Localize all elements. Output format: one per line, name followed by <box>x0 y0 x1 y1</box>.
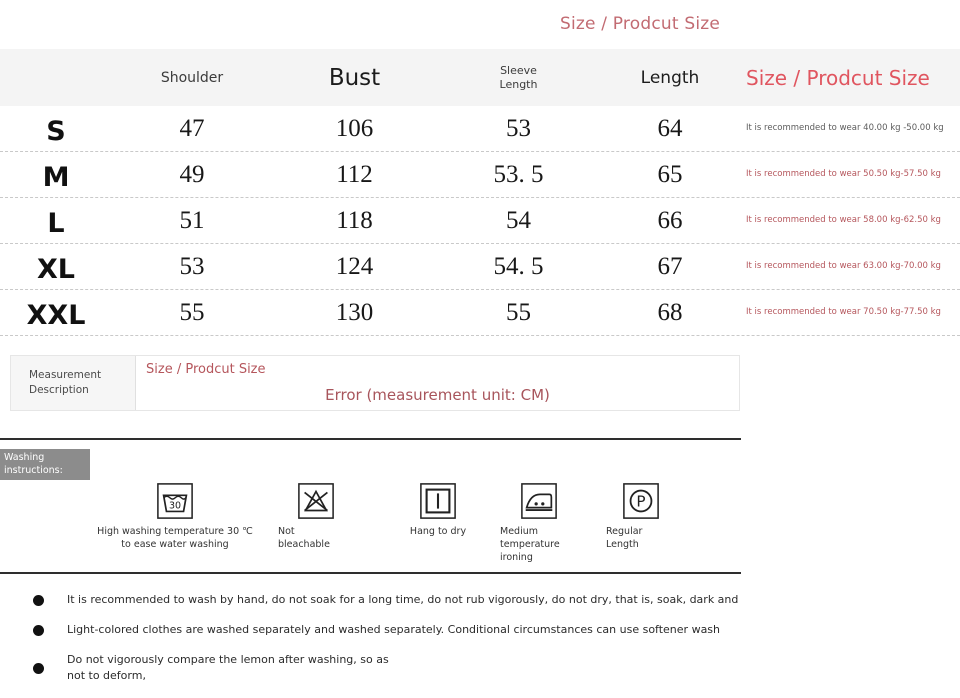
cell-sleeve-length: 53. 5 <box>437 152 600 197</box>
value-sleeve-length: 53 <box>506 115 531 143</box>
list-item: Do not vigorously compare the lemon afte… <box>0 652 760 684</box>
care-label-no-bleach: Not bleachable <box>278 526 330 552</box>
value-length: 66 <box>658 207 683 235</box>
value-bust: 124 <box>336 253 374 281</box>
cell-shoulder: 47 <box>112 106 272 151</box>
value-sleeve-length: 54. 5 <box>494 253 544 281</box>
dry-clean-p-icon: P <box>622 482 660 520</box>
measurement-description-body: Size / Prodcut Size Error (measurement u… <box>136 356 739 410</box>
care-label-wash-temp: High washing temperature 30 ℃ to ease wa… <box>97 526 253 552</box>
value-bust: 112 <box>336 161 373 189</box>
note-text: Do not vigorously compare the lemon afte… <box>67 652 389 684</box>
header-cell-size <box>0 49 112 106</box>
header-cell-length: Length <box>600 49 740 106</box>
hang-to-dry-icon <box>419 482 457 520</box>
value-length: 65 <box>658 161 683 189</box>
cell-length: 64 <box>600 106 740 151</box>
cell-bust: 130 <box>272 290 437 335</box>
svg-text:30: 30 <box>169 501 181 512</box>
cell-size: L <box>0 198 112 243</box>
list-item: Light-colored clothes are washed separat… <box>0 622 760 638</box>
table-header-row: Shoulder Bust Sleeve Length Length Size … <box>0 49 960 106</box>
cell-recommendation: It is recommended to wear 58.00 kg-62.50… <box>740 198 960 243</box>
measurement-description-label: Measurement Description <box>11 356 136 410</box>
value-recommendation: It is recommended to wear 63.00 kg-70.00… <box>746 261 941 272</box>
cell-sleeve-length: 54 <box>437 198 600 243</box>
care-notes-list: It is recommended to wash by hand, do no… <box>0 592 760 698</box>
table-row: XXL 55 130 55 68 It is recommended to we… <box>0 290 960 336</box>
size-label: M <box>43 164 70 191</box>
header-cell-recommendation: Size / Prodcut Size <box>740 49 960 106</box>
value-shoulder: 51 <box>180 207 205 235</box>
cell-recommendation: It is recommended to wear 40.00 kg -50.0… <box>740 106 960 151</box>
value-recommendation: It is recommended to wear 70.50 kg-77.50… <box>746 307 941 318</box>
floating-size-label: Size / Prodcut Size <box>540 6 740 42</box>
value-sleeve-length: 54 <box>506 207 531 235</box>
cell-bust: 118 <box>272 198 437 243</box>
header-label-recommendation: Size / Prodcut Size <box>746 66 930 90</box>
value-recommendation: It is recommended to wear 40.00 kg -50.0… <box>746 123 944 134</box>
note-text: Light-colored clothes are washed separat… <box>67 622 720 638</box>
value-sleeve-length: 55 <box>506 299 531 327</box>
header-cell-shoulder: Shoulder <box>112 49 272 106</box>
header-label-shoulder: Shoulder <box>161 70 223 86</box>
value-length: 67 <box>658 253 683 281</box>
care-item-no-bleach: Not bleachable <box>276 482 356 552</box>
cell-length: 67 <box>600 244 740 289</box>
section-divider-bottom <box>0 572 741 574</box>
cell-size: M <box>0 152 112 197</box>
cell-size: XL <box>0 244 112 289</box>
bullet-icon <box>33 595 44 606</box>
size-label: L <box>47 210 64 237</box>
header-label-length: Length <box>641 68 700 88</box>
wash-tub-30-icon: 30 <box>156 482 194 520</box>
iron-medium-icon <box>520 482 558 520</box>
value-shoulder: 49 <box>180 161 205 189</box>
bullet-icon <box>33 663 44 674</box>
cell-length: 66 <box>600 198 740 243</box>
size-label: S <box>46 118 65 145</box>
header-cell-bust: Bust <box>272 49 437 106</box>
value-bust: 106 <box>336 115 374 143</box>
care-item-hang-to-dry: Hang to dry <box>393 482 483 539</box>
cell-sleeve-length: 53 <box>437 106 600 151</box>
care-item-iron-medium: Medium temperature ironing <box>500 482 578 564</box>
size-label: XXL <box>27 302 86 329</box>
cell-sleeve-length: 54. 5 <box>437 244 600 289</box>
value-bust: 130 <box>336 299 374 327</box>
table-row: L 51 118 54 66 It is recommended to wear… <box>0 198 960 244</box>
value-recommendation: It is recommended to wear 58.00 kg-62.50… <box>746 215 941 226</box>
header-cell-sleeve-length: Sleeve Length <box>437 49 600 106</box>
care-label-iron-medium: Medium temperature ironing <box>500 526 560 564</box>
size-chart-page: Size / Prodcut Size Shoulder Bust Sleeve… <box>0 0 960 698</box>
table-row: XL 53 124 54. 5 67 It is recommended to … <box>0 244 960 290</box>
cell-recommendation: It is recommended to wear 70.50 kg-77.50… <box>740 290 960 335</box>
cell-sleeve-length: 55 <box>437 290 600 335</box>
care-item-dry-clean: P Regular Length <box>606 482 676 552</box>
note-text: It is recommended to wash by hand, do no… <box>67 592 738 608</box>
svg-text:P: P <box>636 493 645 511</box>
cell-shoulder: 55 <box>112 290 272 335</box>
size-label: XL <box>37 256 75 283</box>
bullet-icon <box>33 625 44 636</box>
list-item: It is recommended to wash by hand, do no… <box>0 592 760 608</box>
value-sleeve-length: 53. 5 <box>494 161 544 189</box>
measurement-description-block: Measurement Description Size / Prodcut S… <box>10 355 740 411</box>
cell-length: 68 <box>600 290 740 335</box>
header-label-sleeve-length: Sleeve Length <box>500 64 538 91</box>
value-bust: 118 <box>336 207 373 235</box>
table-row: M 49 112 53. 5 65 It is recommended to w… <box>0 152 960 198</box>
section-divider-top <box>0 438 741 440</box>
cell-shoulder: 49 <box>112 152 272 197</box>
washing-instructions-badge: Washing instructions: <box>0 449 90 480</box>
cell-bust: 106 <box>272 106 437 151</box>
care-label-hang-to-dry: Hang to dry <box>410 526 466 539</box>
cell-size: S <box>0 106 112 151</box>
cell-bust: 124 <box>272 244 437 289</box>
value-length: 68 <box>658 299 683 327</box>
value-length: 64 <box>658 115 683 143</box>
cell-recommendation: It is recommended to wear 63.00 kg-70.00… <box>740 244 960 289</box>
value-shoulder: 47 <box>180 115 205 143</box>
care-label-dry-clean: Regular Length <box>606 526 642 552</box>
value-shoulder: 53 <box>180 253 205 281</box>
value-recommendation: It is recommended to wear 50.50 kg-57.50… <box>746 169 941 180</box>
care-item-wash-temp: 30 High washing temperature 30 ℃ to ease… <box>90 482 260 552</box>
no-bleach-icon <box>297 482 335 520</box>
table-row: S 47 106 53 64 It is recommended to wear… <box>0 106 960 152</box>
value-shoulder: 55 <box>180 299 205 327</box>
size-table: Shoulder Bust Sleeve Length Length Size … <box>0 49 960 336</box>
header-label-bust: Bust <box>329 65 380 91</box>
cell-shoulder: 53 <box>112 244 272 289</box>
cell-recommendation: It is recommended to wear 50.50 kg-57.50… <box>740 152 960 197</box>
cell-size: XXL <box>0 290 112 335</box>
care-icon-strip: 30 High washing temperature 30 ℃ to ease… <box>80 482 700 567</box>
cell-length: 65 <box>600 152 740 197</box>
measurement-size-note: Size / Prodcut Size <box>146 362 266 377</box>
cell-shoulder: 51 <box>112 198 272 243</box>
cell-bust: 112 <box>272 152 437 197</box>
measurement-error-note: Error (measurement unit: CM) <box>136 386 739 404</box>
